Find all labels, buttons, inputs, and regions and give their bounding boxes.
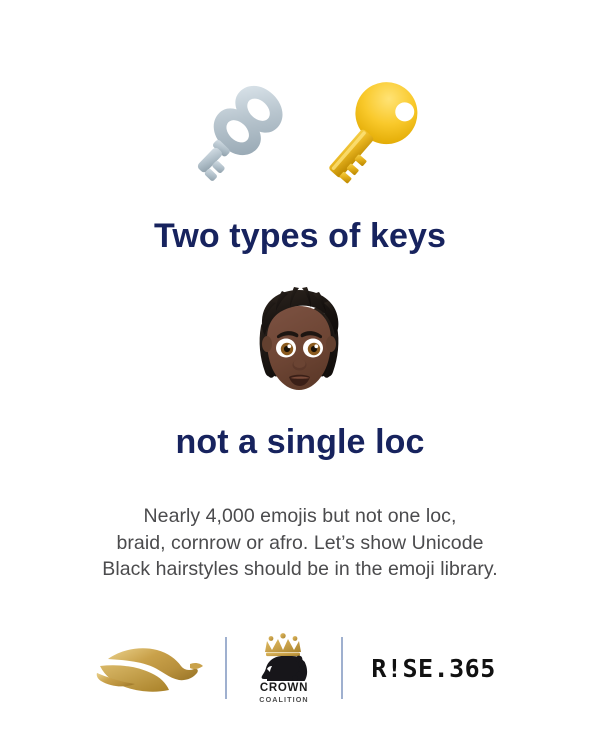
key-emoji bbox=[314, 74, 426, 190]
body-line-3: Black hairstyles should be in the emoji … bbox=[55, 556, 545, 583]
body-paragraph: Nearly 4,000 emojis but not one loc, bra… bbox=[55, 503, 545, 583]
coalition-wordmark: COALITION bbox=[259, 695, 308, 704]
body-line-1: Nearly 4,000 emojis but not one loc, bbox=[55, 503, 545, 530]
body-line-2: braid, cornrow or afro. Let’s show Unico… bbox=[55, 530, 545, 557]
dove-icon bbox=[94, 640, 206, 696]
headline-two-types-of-keys: Two types of keys bbox=[0, 215, 600, 257]
person-with-locs-dark-skin-tone-emoji bbox=[237, 282, 363, 404]
footer-divider-2 bbox=[341, 637, 343, 699]
old-key-emoji bbox=[174, 74, 300, 190]
crown-coalition-icon bbox=[254, 633, 314, 681]
rise-365-logo-cell[interactable]: R!SE.365 bbox=[359, 628, 509, 708]
headline-not-a-single-loc: not a single loc bbox=[0, 421, 600, 463]
rise-365-wordmark: R!SE.365 bbox=[371, 654, 495, 683]
crown-wordmark: CROWN bbox=[260, 682, 308, 694]
footer-logo-strip: CROWN COALITION R!SE.365 bbox=[0, 628, 600, 708]
dove-logo-cell[interactable] bbox=[91, 628, 209, 708]
poster-canvas: Two types of keys bbox=[0, 0, 600, 750]
crown-coalition-logo-cell[interactable]: CROWN COALITION bbox=[243, 628, 325, 708]
keys-emoji-row bbox=[0, 62, 600, 202]
footer-divider-1 bbox=[225, 637, 227, 699]
locs-emoji-container bbox=[0, 282, 600, 404]
